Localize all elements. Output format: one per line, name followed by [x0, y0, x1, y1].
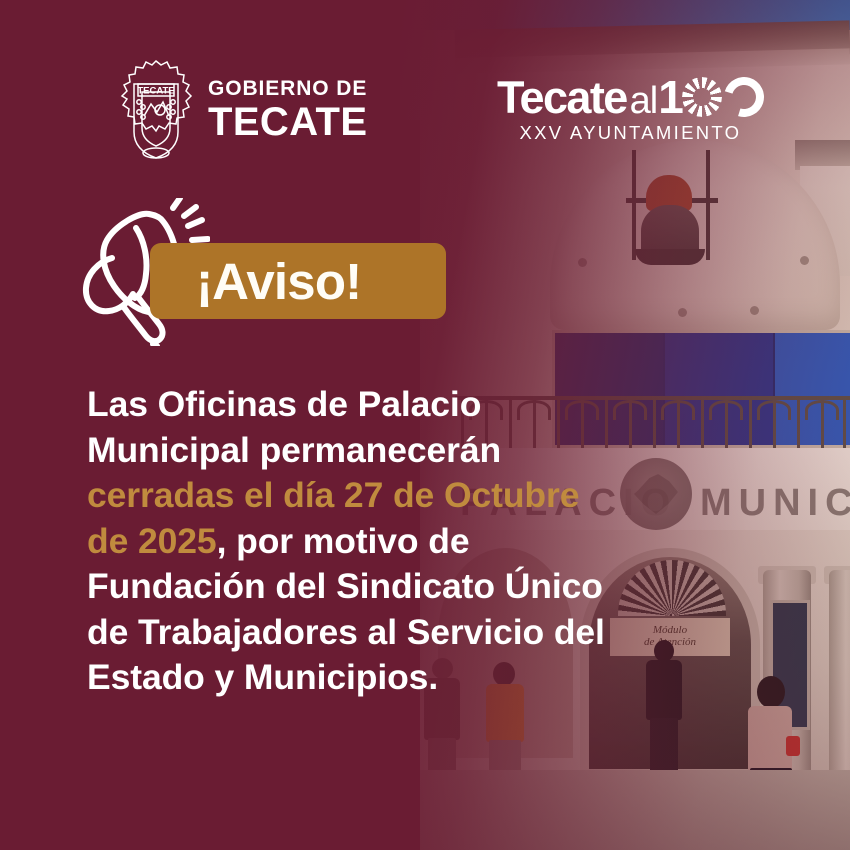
gov-logo-line2: TECATE: [208, 102, 367, 142]
t100-word-al: al: [630, 82, 658, 120]
gov-logo-line1: GOBIERNO DE: [208, 78, 367, 99]
aviso-badge: ¡Aviso!: [150, 243, 446, 319]
gear-zero-icon: [682, 77, 722, 117]
t100-subtitle: XXV AYUNTAMIENTO: [497, 122, 764, 144]
notice-body: Las Oficinas de Palacio Municipal perman…: [87, 382, 607, 701]
t100-word-tecate: Tecate: [497, 75, 627, 120]
ring-zero-icon: [717, 70, 771, 124]
tecate-coat-of-arms-icon: TECATE: [118, 58, 194, 162]
notice-segment-1: Las Oficinas de Palacio Municipal perman…: [87, 384, 501, 470]
svg-text:TECATE: TECATE: [137, 86, 174, 97]
gobierno-de-tecate-logo: TECATE GOBIERNO DE TECATE: [118, 58, 367, 162]
notice-poster: PALACIO MUNICIPAL Módulo de Atención: [0, 0, 850, 850]
poster-content: TECATE GOBIERNO DE TECATE Tecate al 1 XX…: [0, 0, 850, 850]
tecate-al-100-logo: Tecate al 1 XXV AYUNTAMIENTO: [497, 74, 764, 144]
aviso-badge-label: ¡Aviso!: [196, 256, 361, 307]
t100-numeral-one: 1: [658, 74, 684, 120]
